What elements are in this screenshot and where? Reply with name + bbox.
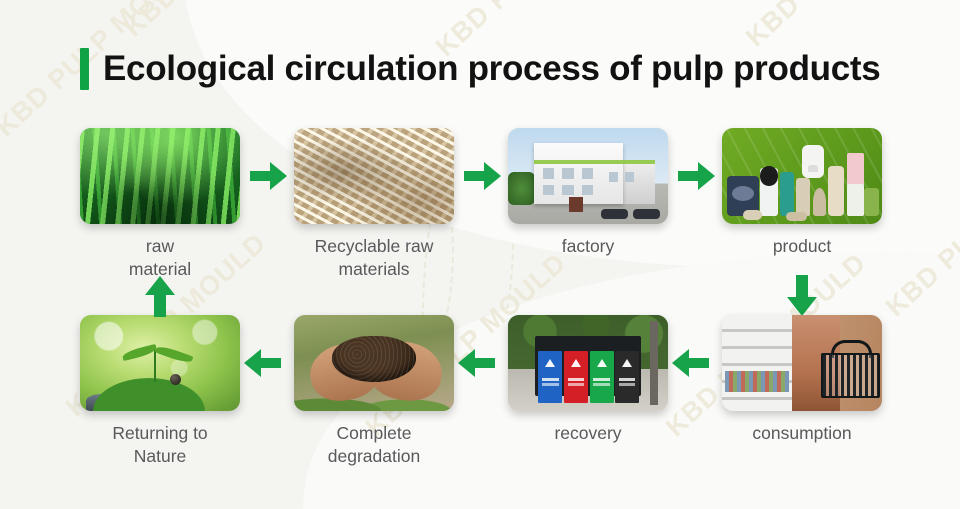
recovery-label: recovery <box>554 422 621 445</box>
title-accent-bar <box>80 48 89 90</box>
recyclable-raw-materials-card[interactable] <box>294 128 454 224</box>
straw-fiber-image <box>294 128 454 224</box>
complete-degradation-card[interactable] <box>294 315 454 411</box>
factory-card[interactable] <box>508 128 668 224</box>
arrow-product-to-consumption <box>786 275 818 317</box>
arrow-recyclable-to-factory <box>464 161 502 191</box>
recovery-card[interactable] <box>508 315 668 411</box>
factory-label: factory <box>562 235 615 258</box>
pulp-products-image <box>722 128 882 224</box>
recycle-bin-green <box>590 351 614 403</box>
flow-node-recyclable-raw-materials[interactable]: Recyclable raw materials <box>294 128 454 281</box>
shopping-basket-image <box>722 315 882 411</box>
hands-soil-image <box>294 315 454 411</box>
arrow-consumption-to-recovery <box>672 348 710 378</box>
sprout-moss-image <box>80 315 240 411</box>
arrow-factory-to-product <box>678 161 716 191</box>
product-card[interactable] <box>722 128 882 224</box>
recycle-bins-image <box>508 315 668 411</box>
arrow-nature-to-raw <box>144 275 176 317</box>
complete-degradation-label: Complete degradation <box>328 422 420 468</box>
flow-node-raw-material[interactable]: raw material <box>80 128 240 281</box>
recycle-bin-blue <box>538 351 562 403</box>
flow-node-product[interactable]: product <box>722 128 882 258</box>
watermark-text: KBD PULP MOULD <box>740 0 952 53</box>
bamboo-forest-image <box>80 128 240 224</box>
factory-building-image <box>508 128 668 224</box>
flow-node-consumption[interactable]: consumption <box>722 315 882 445</box>
page-title: Ecological circulation process of pulp p… <box>80 48 880 90</box>
consumption-label: consumption <box>752 422 851 445</box>
flow-node-complete-degradation[interactable]: Complete degradation <box>294 315 454 468</box>
returning-to-nature-label: Returning to Nature <box>112 422 207 468</box>
raw-material-card[interactable] <box>80 128 240 224</box>
watermark-text: KBD PULP MOULD <box>880 127 960 323</box>
recycle-bin-black <box>615 351 639 403</box>
arrow-degradation-to-nature <box>244 348 282 378</box>
arrow-recovery-to-degradation <box>458 348 496 378</box>
watermark-text: KBD PULP MOULD <box>118 0 330 43</box>
arrow-raw-to-recyclable <box>250 161 288 191</box>
infographic-canvas: KBD PULP MOULD KBD PULP MOULD KBD PULP M… <box>0 0 960 509</box>
recyclable-raw-materials-label: Recyclable raw materials <box>315 235 434 281</box>
title-text: Ecological circulation process of pulp p… <box>103 49 880 89</box>
flow-node-recovery[interactable]: recovery <box>508 315 668 445</box>
recycle-bin-red <box>564 351 588 403</box>
flow-node-factory[interactable]: factory <box>508 128 668 258</box>
product-label: product <box>773 235 831 258</box>
flow-node-returning-to-nature[interactable]: Returning to Nature <box>80 315 240 468</box>
consumption-card[interactable] <box>722 315 882 411</box>
returning-to-nature-card[interactable] <box>80 315 240 411</box>
